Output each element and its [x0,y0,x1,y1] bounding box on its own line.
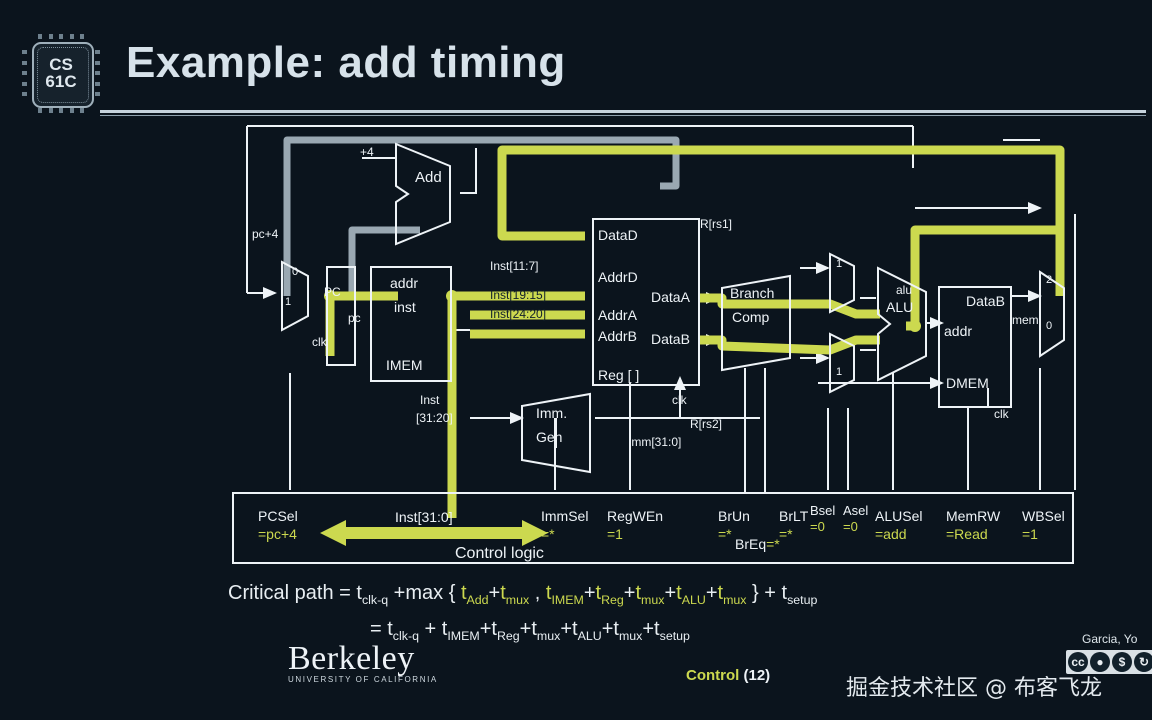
pcsel-value: =pc+4 [258,526,298,544]
page-title: Example: add timing [126,38,566,88]
inst-31-20-label-a: Inst [420,394,439,407]
control-signal-bsel: Bsel =0 [810,503,835,536]
breq-name: BrEq [735,536,766,552]
control-signal-brlt: BrLT =* [779,508,808,543]
bsel-name: Bsel [810,503,835,519]
r-rs2-label: R[rs2] [690,418,722,431]
control-signal-memrw: MemRW =Read [946,508,1000,543]
regfile-name-label: Reg [ ] [598,368,639,383]
chip-pins-bottom [38,108,84,113]
alusel-name: ALUSel [875,508,922,526]
alu-shape [874,264,934,384]
brlt-value: =* [779,526,808,544]
slide-root: CS 61C Example: add timing [0,0,1152,720]
writeback-mux [1036,268,1072,364]
control-signal-regwen: RegWEn =1 [607,508,663,543]
regfile-out-datab: DataB [651,332,690,347]
alu-label: ALU [886,300,913,315]
control-signal-immsel: ImmSel =* [541,508,588,543]
regfile-clk-label: clk [672,394,687,407]
wb-mux-input-2: 2 [1046,274,1052,286]
regwen-name: RegWEn [607,508,663,526]
dmem-clk-label: clk [994,408,1009,421]
immgen-label-1: Imm. [536,406,567,421]
berkeley-wordmark: Berkeley [288,640,488,678]
pc-out-label: pc [348,312,361,325]
wb-mux-input-0: 0 [1046,320,1052,332]
alu-out-label: alu [896,284,912,297]
brun-name: BrUn [718,508,750,526]
chip-pins-right [95,50,100,96]
imem-addr-label: addr [390,276,418,291]
footer-section-note: Control (12) [686,667,770,684]
imm-31-0-label: Imm[31:0] [628,436,681,449]
inst-19-15-label: Inst[19:15] [490,289,546,302]
pcsel-name: PCSel [258,508,298,526]
inst-31-20-label-b: [31:20] [416,412,453,425]
chip-pins-left [22,50,27,96]
control-signal-alusel: ALUSel =add [875,508,922,543]
pc-clk-label: clk [312,336,327,349]
dmem-datab-label: DataB [966,294,1005,309]
control-signal-breq: BrEq=* [735,535,780,555]
cc-icon: cc [1068,652,1088,672]
branchcomp-label-2: Comp [732,310,769,325]
imem-inst-label: inst [394,300,416,315]
chip-pins-top [38,34,84,39]
pc-plus-4-label: pc+4 [252,228,278,241]
asel-mux [826,250,862,316]
imem-name-label: IMEM [386,358,423,373]
add-label: Add [415,170,442,187]
mem-out-label: mem [1012,314,1039,327]
control-signal-asel: Asel =0 [843,503,868,536]
pc-in-label: PC [324,286,341,299]
watermark-text: 掘金技术社区 @ 布客飞龙 [846,670,1102,702]
memrw-value: =Read [946,526,1000,544]
berkeley-subtitle: UNIVERSITY OF CALIFORNIA [288,675,488,684]
regfile-port-addra: AddrA [598,308,637,323]
regfile-port-addrd: AddrD [598,270,638,285]
pc-mux-input-0: 0 [292,266,298,278]
regfile-port-addrb: AddrB [598,329,637,344]
logo-line-1: CS [49,56,73,73]
wbsel-value: =1 [1022,526,1065,544]
cc-by-icon: ● [1090,652,1110,672]
cc-nc-icon: $ [1112,652,1132,672]
bsel-value: =0 [810,519,835,535]
critical-path-formula-line1: Critical path = tclk-q +max { tAdd+tmux … [228,582,817,607]
cs61c-chip-logo: CS 61C [16,30,104,120]
bsel-mux-input-1: 1 [836,366,842,378]
regfile-port-datad: DataD [598,228,638,243]
breq-value: =* [766,536,780,552]
dmem-addr-label: addr [944,324,972,339]
regfile-out-dataa: DataA [651,290,690,305]
immsel-value: =* [541,526,588,544]
plus4-label: +4 [360,146,374,159]
asel-value: =0 [843,519,868,535]
branchcomp-label-1: Branch [730,286,774,301]
add-unit [392,140,464,248]
asel-name: Asel [843,503,868,519]
footer-section-name: Control [686,667,739,684]
memrw-name: MemRW [946,508,1000,526]
regwen-value: =1 [607,526,663,544]
footer-slide-number: (12) [744,667,771,684]
inst-24-20-label: Inst[24:20] [490,308,546,321]
control-signal-pcsel: PCSel =pc+4 [258,508,298,543]
asel-mux-input-1: 1 [836,258,842,270]
bsel-mux [826,330,862,396]
wbsel-name: WBSel [1022,508,1065,526]
control-inst-label: Inst[31:0] [395,509,453,525]
dmem-name-label: DMEM [946,376,989,391]
brlt-name: BrLT [779,508,808,526]
pc-mux-input-1: 1 [285,296,291,308]
r-rs1-label: R[rs1] [700,218,732,231]
author-credit: Garcia, Yo [1082,632,1137,646]
title-divider [100,110,1146,113]
control-signal-wbsel: WBSel =1 [1022,508,1065,543]
control-logic-label: Control logic [455,545,544,563]
chip-logo-text: CS 61C [32,42,90,104]
inst-11-7-label: Inst[11:7] [490,260,538,273]
cc-sa-icon: ↻ [1134,652,1152,672]
alusel-value: =add [875,526,922,544]
berkeley-logo: Berkeley UNIVERSITY OF CALIFORNIA [288,640,488,684]
logo-line-2: 61C [45,73,76,90]
immgen-label-2: Gen [536,430,562,445]
immsel-name: ImmSel [541,508,588,526]
